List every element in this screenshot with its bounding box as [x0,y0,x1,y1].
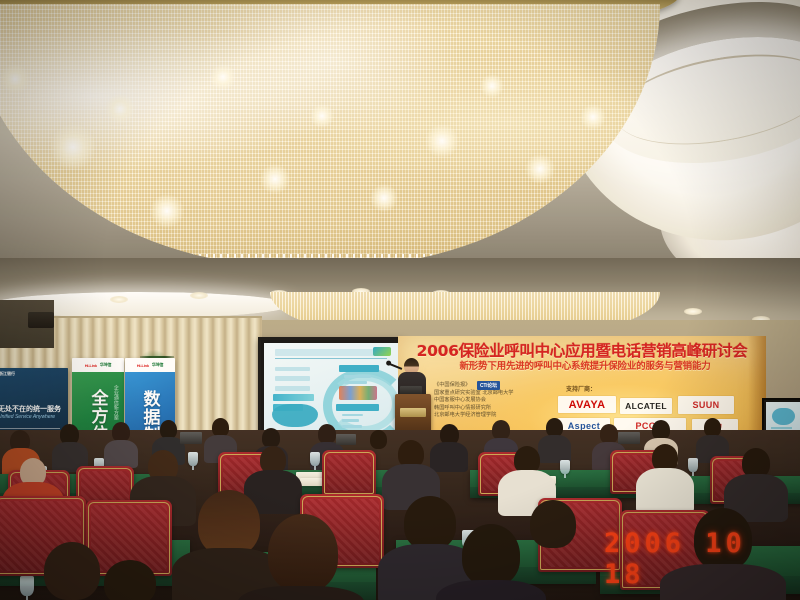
attendee-body [538,435,571,463]
rollup-subtext: 企业通信新方案 [113,385,120,420]
rollup-header: Hi-Link 华坤信 [125,358,175,372]
slide-people-photo [339,386,377,400]
slide-highlight-1 [273,394,313,401]
attendee-body [430,442,468,472]
slide-blob [772,408,794,425]
attendee-head [198,490,260,556]
hi-link-logo: Hi-Link [85,363,97,368]
water-glass [188,452,198,466]
slide-callout-cloud [272,404,318,428]
rollup-headline-en: Unified Service Anywhere [0,414,55,420]
rollup-headline-cn: 无处不在的统一服务 [0,404,61,414]
attendee-head [44,542,100,600]
sponsor-logo-alcatel: ALCATEL [620,398,672,414]
attendee-head [462,524,520,586]
slide-label-top [339,365,379,373]
attendee-body [104,440,138,468]
water-glass [20,576,34,596]
banquet-chair [322,450,376,496]
attendee-head [262,428,280,448]
rollup-brand-label: 浙江银行 [0,371,15,377]
banner-organizers: 《中国保险报》 国家重点研究实验室 北京邮电大学 中国客服中心发展协会 韩国呼叫… [434,382,513,420]
slide-logo [373,347,392,356]
conference-photo: 浙江银行 无处不在的统一服务 Unified Service Anywhere … [0,0,800,600]
attendee-head [268,514,338,592]
attendee-laptop [336,434,356,445]
crystal-chandelier [0,4,660,266]
attendee-head [370,430,387,449]
slide-title-bar [275,349,388,356]
banner-sponsor-label: 支持厂商： [566,384,596,393]
attendee-laptop [618,432,640,444]
attendee-head [652,420,670,440]
huakunxin-logo: 华坤信 [100,362,111,368]
water-glass [310,452,320,466]
chandelier-glow [0,4,660,266]
attendee-head [104,560,156,600]
sponsor-logo-suun: SUUN [678,396,734,414]
huakunxin-logo: 华坤信 [152,362,163,368]
attendee-head [318,424,336,444]
attendee-body [636,468,694,514]
attendee-head [492,420,510,440]
cti-forum-logo: CTi论坛 [477,381,500,390]
rollup-header: Hi-Link 华坤信 [72,358,124,372]
hi-link-logo: Hi-Link [137,363,149,368]
water-glass [560,460,570,474]
sponsor-logo-avaya: AVAYA [558,396,616,413]
attendee-head [404,496,456,550]
attendee-head [112,422,130,442]
attendee-head [600,424,618,444]
water-glass [688,458,698,472]
podium-plaque [400,408,426,417]
wall-speaker [28,312,54,328]
attendee-laptop [180,432,202,444]
banner-subtitle: 新形势下用先进的呼叫中心系统提升保险业的服务与营销能力 [408,358,762,372]
camera-date-stamp: 2006 10 18 [604,528,800,590]
attendee-head [530,500,576,548]
slide-label-bottom [336,404,379,411]
slide-rule [275,358,388,359]
